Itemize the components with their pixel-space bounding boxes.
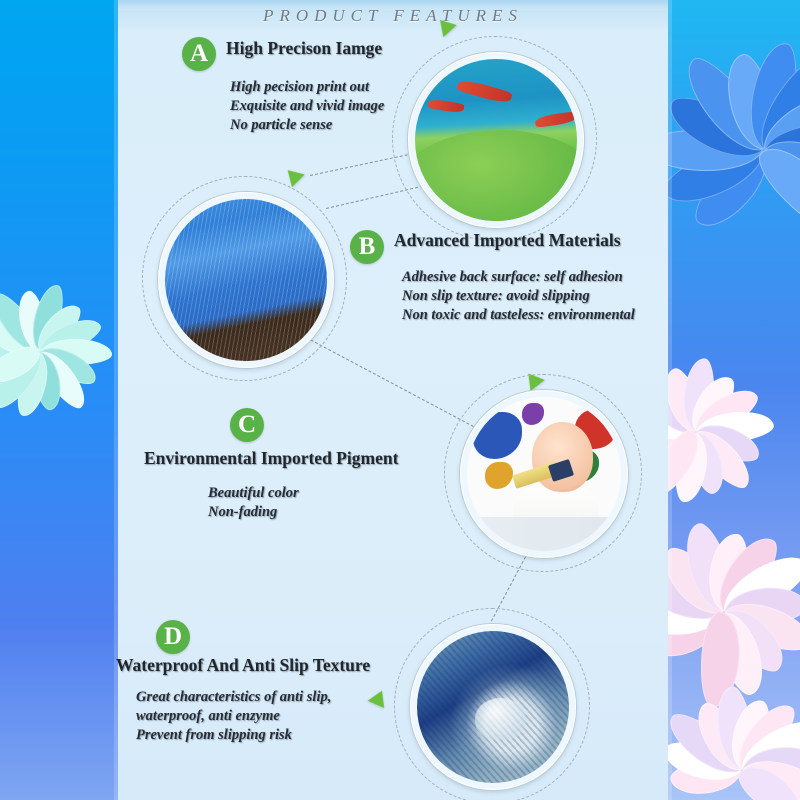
arrow-into-d-photo bbox=[368, 687, 391, 708]
left-decor-border bbox=[0, 0, 118, 800]
photo-c[interactable] bbox=[460, 390, 628, 558]
paint-floor bbox=[470, 517, 618, 551]
feature-badge-d: D bbox=[156, 620, 190, 654]
feature-badge-c: C bbox=[230, 408, 264, 442]
paint-splatter bbox=[473, 412, 522, 458]
feature-heading-b: Advanced Imported Materials bbox=[394, 230, 621, 251]
feature-heading-d: Waterproof And Anti Slip Texture bbox=[116, 655, 370, 676]
bullet-line: waterproof, anti enzyme bbox=[136, 707, 331, 726]
koi-fish-icon bbox=[534, 111, 577, 128]
bullet-line: High pecision print out bbox=[230, 78, 384, 97]
bullet-line: Non toxic and tasteless: environmental bbox=[402, 306, 635, 325]
feature-bullets-d: Great characteristics of anti slip, wate… bbox=[136, 688, 331, 745]
baby-head bbox=[532, 422, 594, 493]
photo-b[interactable] bbox=[158, 192, 334, 368]
paint-splatter bbox=[522, 403, 544, 425]
bullet-line: Exquisite and vivid image bbox=[230, 97, 384, 116]
feature-heading-c: Environmental Imported Pigment bbox=[144, 448, 398, 469]
feature-bullets-a: High pecision print out Exquisite and vi… bbox=[230, 78, 384, 135]
bullet-line: Prevent from slipping risk bbox=[136, 726, 331, 745]
page-title: PRODUCT FEATURES bbox=[118, 6, 668, 26]
infographic-canvas: PRODUCT FEATURES A High Precison Iamge H… bbox=[0, 0, 800, 800]
waterproof-texture-image bbox=[417, 631, 569, 783]
bullet-line: Beautiful color bbox=[208, 484, 299, 503]
bullet-line: Non-fading bbox=[208, 503, 299, 522]
bullet-line: Non slip texture: avoid slipping bbox=[402, 287, 635, 306]
photo-c-image bbox=[467, 397, 621, 551]
feature-badge-b: B bbox=[350, 230, 384, 264]
koi-pond-image bbox=[415, 59, 577, 221]
painting-baby-image bbox=[467, 397, 621, 551]
koi-fish-icon bbox=[427, 98, 464, 114]
feature-bullets-c: Beautiful color Non-fading bbox=[208, 484, 299, 522]
feature-heading-a: High Precison Iamge bbox=[226, 38, 382, 59]
feature-badge-a: A bbox=[182, 37, 216, 71]
feature-bullets-b: Adhesive back surface: self adhesion Non… bbox=[402, 268, 635, 325]
blue-fabric-image bbox=[165, 199, 327, 361]
photo-a[interactable] bbox=[408, 52, 584, 228]
right-decor-border bbox=[668, 0, 800, 800]
photo-d-image bbox=[417, 631, 569, 783]
photo-d[interactable] bbox=[410, 624, 576, 790]
photo-a-image bbox=[415, 59, 577, 221]
photo-b-image bbox=[165, 199, 327, 361]
koi-fish-icon bbox=[456, 78, 513, 106]
bullet-line: Adhesive back surface: self adhesion bbox=[402, 268, 635, 287]
bullet-line: Great characteristics of anti slip, bbox=[136, 688, 331, 707]
bullet-line: No particle sense bbox=[230, 116, 384, 135]
content-panel: PRODUCT FEATURES A High Precison Iamge H… bbox=[118, 0, 668, 800]
paint-splatter bbox=[485, 462, 513, 490]
